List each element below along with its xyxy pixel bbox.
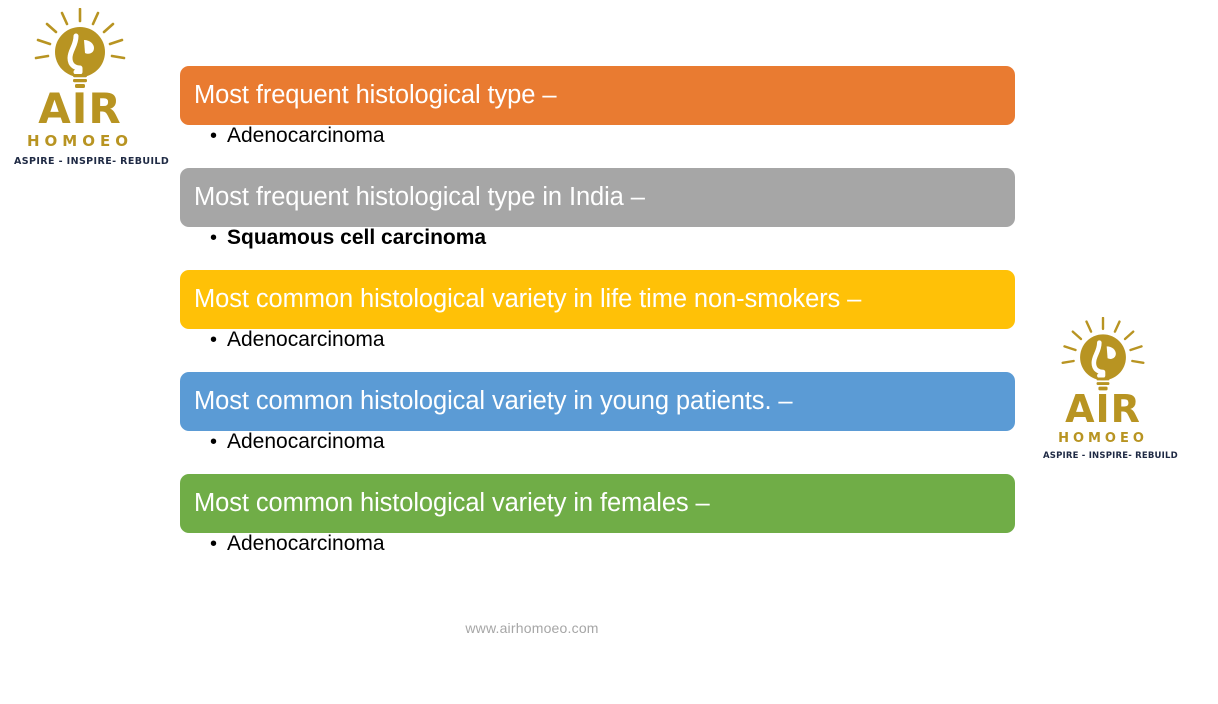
bullet-point-icon: • [210,126,227,146]
lightbulb-rays-icon [32,8,128,92]
logo-wordmark: AIR [14,88,146,130]
answer-bullet-row: • Adenocarcinoma [180,125,1015,168]
heading-text: Most frequent histological type – [194,83,556,109]
heading-bar-green: Most common histological variety in fema… [180,474,1015,533]
heading-text: Most common histological variety in youn… [194,389,793,415]
heading-bar-gray: Most frequent histological type in India… [180,168,1015,227]
bullet-point-icon: • [210,432,227,452]
footer-website-url: www.airhomoeo.com [0,620,1064,636]
heading-text: Most common histological variety in fema… [194,491,710,517]
answer-text: Adenocarcinoma [227,125,385,146]
heading-bar-yellow: Most common histological variety in life… [180,270,1015,329]
heading-bar-blue: Most common histological variety in youn… [180,372,1015,431]
content-block: Most frequent histological type – • Aden… [180,66,1015,168]
answer-text: Squamous cell carcinoma [227,227,486,248]
lightbulb-rays-icon [1059,317,1147,394]
heading-text: Most common histological variety in life… [194,287,861,313]
answer-bullet-row: • Squamous cell carcinoma [180,227,1015,270]
logo-air-homoeo-secondary: AIR HOMOEO ASPIRE - INSPIRE- REBUILD [1043,317,1163,461]
content-block: Most common histological variety in youn… [180,372,1015,474]
logo-air-homoeo-primary: AIR HOMOEO ASPIRE - INSPIRE- REBUILD [14,8,146,167]
heading-bar-orange: Most frequent histological type – [180,66,1015,125]
answer-text: Adenocarcinoma [227,329,385,350]
answer-bullet-row: • Adenocarcinoma [180,533,1015,576]
answer-bullet-row: • Adenocarcinoma [180,431,1015,474]
logo-subtitle: HOMOEO [1043,432,1163,445]
content-block: Most common histological variety in fema… [180,474,1015,576]
logo-tagline: ASPIRE - INSPIRE- REBUILD [14,157,146,167]
bullet-point-icon: • [210,534,227,554]
answer-bullet-row: • Adenocarcinoma [180,329,1015,372]
content-block: Most frequent histological type in India… [180,168,1015,270]
answer-text: Adenocarcinoma [227,533,385,554]
logo-wordmark: AIR [1043,390,1163,428]
logo-subtitle: HOMOEO [14,134,146,149]
logo-tagline: ASPIRE - INSPIRE- REBUILD [1043,452,1163,461]
bullet-point-icon: • [210,228,227,248]
content-block: Most common histological variety in life… [180,270,1015,372]
heading-text: Most frequent histological type in India… [194,185,645,211]
answer-text: Adenocarcinoma [227,431,385,452]
content-block-list: Most frequent histological type – • Aden… [180,66,1015,576]
bullet-point-icon: • [210,330,227,350]
